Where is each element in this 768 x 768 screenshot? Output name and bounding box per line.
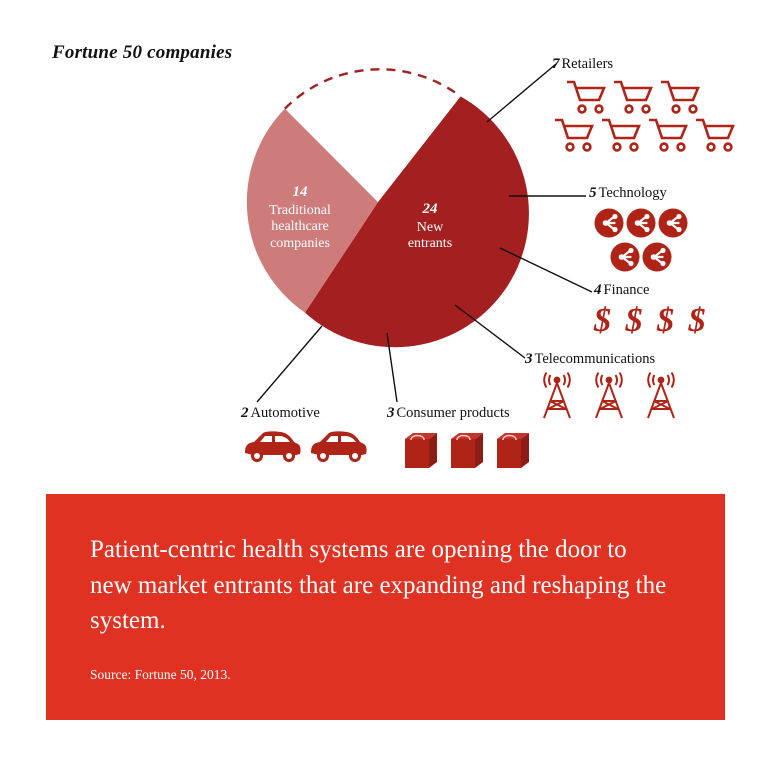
shopping-cart-icon [552, 116, 599, 156]
callout-finance-name: Finance [604, 282, 650, 298]
infographic-root: Fortune 50 companies 14 Traditional heal… [0, 0, 768, 768]
callout-consumer-products[interactable]: 3Consumer products [387, 406, 535, 471]
radio-tower-icon [583, 371, 635, 423]
quote-callout-box: Patient-centric health systems are openi… [46, 494, 725, 720]
shopping-cart-icon [564, 78, 611, 118]
leader-line-telecommunications [455, 305, 525, 358]
callout-technology-name: Technology [599, 185, 667, 201]
callout-technology-title: 5Technology [589, 186, 689, 201]
callout-technology-value: 5 [589, 185, 597, 201]
callout-retailers-title: 7Retailers [552, 57, 740, 72]
share-node-icon [593, 207, 625, 239]
shopping-cart-icon [611, 78, 658, 118]
quote-source: Source: Fortune 50, 2013. [90, 667, 681, 683]
share-node-icon [657, 207, 689, 239]
callout-technology[interactable]: 5Technology [589, 186, 689, 273]
callout-finance-value: 4 [594, 282, 602, 298]
dollar-sign-icon: $ $ $ $ [594, 304, 709, 338]
shopping-cart-icon [599, 116, 646, 156]
callout-telecommunications[interactable]: 3Telecommunications [525, 352, 687, 423]
callout-telecommunications-title: 3Telecommunications [525, 352, 687, 367]
share-node-icon [609, 241, 641, 273]
callout-telecommunications-name: Telecommunications [535, 351, 656, 367]
radio-tower-icon [531, 371, 583, 423]
callout-retailers-value: 7 [552, 56, 560, 72]
shopping-bag-icon [491, 427, 535, 471]
callout-finance-title: 4Finance [594, 283, 709, 298]
callout-telecommunications-value: 3 [525, 351, 533, 367]
callout-automotive-name: Automotive [251, 405, 320, 421]
car-icon [307, 429, 369, 465]
callout-consumer-products-name: Consumer products [397, 405, 510, 421]
shopping-bag-icon [399, 427, 443, 471]
callout-automotive-title: 2Automotive [241, 406, 369, 421]
share-node-icon [641, 241, 673, 273]
callout-consumer-products-value: 3 [387, 405, 395, 421]
share-node-icon [625, 207, 657, 239]
callout-retailers-name: Retailers [562, 56, 614, 72]
shopping-bag-icon [445, 427, 489, 471]
leader-line-retailers [487, 64, 556, 122]
shopping-cart-icon [693, 116, 740, 156]
radio-tower-icon [635, 371, 687, 423]
callout-finance[interactable]: 4Finance $ $ $ $ [594, 283, 709, 338]
callout-consumer-products-title: 3Consumer products [387, 406, 535, 421]
leader-line-automotive [257, 326, 322, 402]
quote-text: Patient-centric health systems are openi… [90, 532, 672, 639]
shopping-cart-icon [658, 78, 705, 118]
callout-automotive-value: 2 [241, 405, 249, 421]
callout-retailers[interactable]: 7Retailers [552, 57, 740, 156]
shopping-cart-icon [646, 116, 693, 156]
callout-automotive[interactable]: 2Automotive [241, 406, 369, 465]
car-icon [241, 429, 303, 465]
